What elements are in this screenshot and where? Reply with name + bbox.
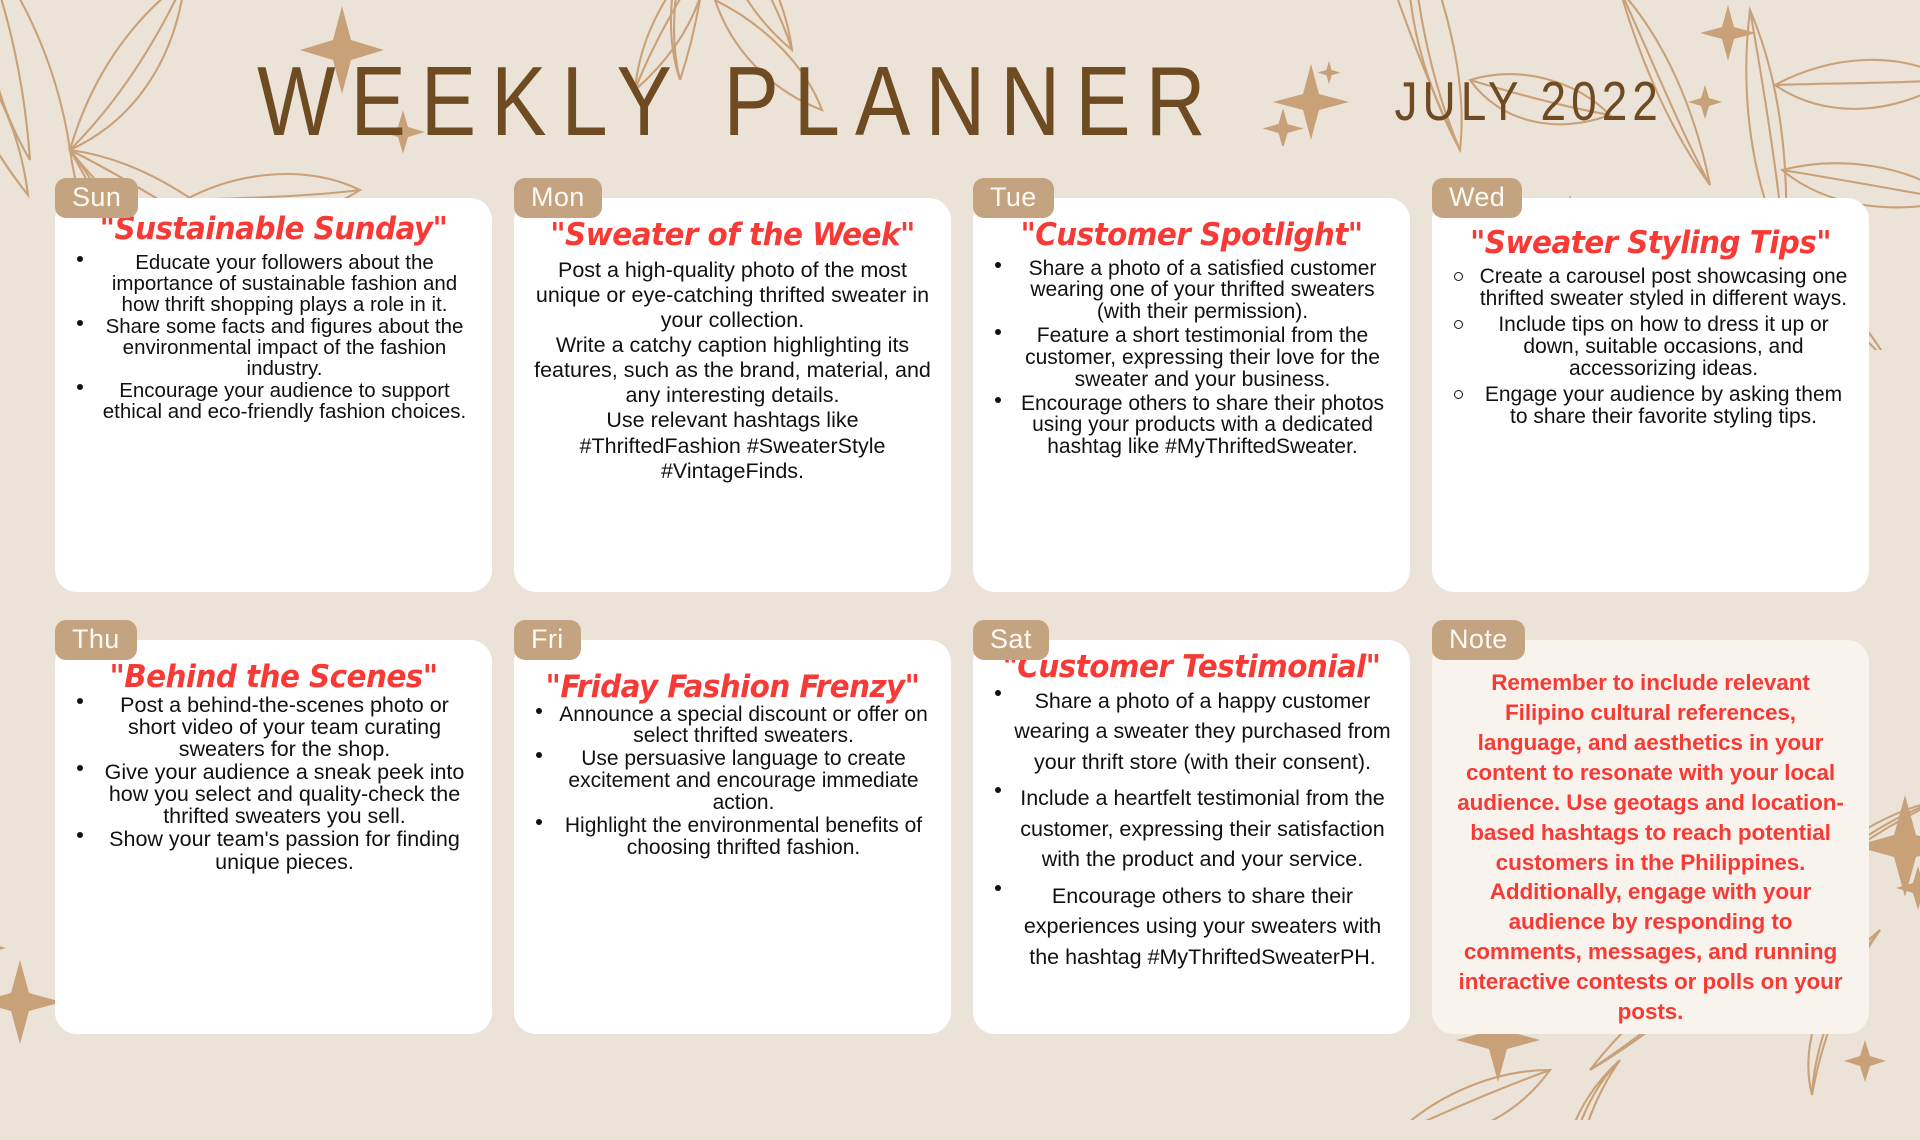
day-title-mon: "Sweater of the Week" [538,220,927,252]
day-tab-thu[interactable]: Thu [55,620,137,660]
bullet-circle-icon [1454,390,1463,399]
list-item: Give your audience a sneak peek into how… [69,761,478,827]
list-item: Write a catchy caption highlighting its … [528,333,937,408]
bullet-disc-icon [995,787,1001,793]
list-item-text: Post a behind-the-scenes photo or short … [120,693,449,761]
planner-header: WEEKLY PLANNER JULY 2022 [0,46,1920,156]
list-item-text: Highlight the environmental benefits of … [565,814,922,859]
bullet-circle-icon [1454,320,1463,329]
day-card-body-thu: "Behind the Scenes" Post a behind-the-sc… [55,640,492,1034]
list-item: Announce a special discount or offer on … [528,704,937,748]
day-title-fri: "Friday Fashion Frenzy" [538,672,927,704]
bullet-disc-icon [995,397,1001,403]
list-item-text: Include a heartfelt testimonial from the… [1020,786,1385,871]
day-card-thu[interactable]: Thu "Behind the Scenes" Post a behind-th… [55,620,492,1034]
page-title: WEEKLY PLANNER [257,52,1220,150]
list-item-text: Write a catchy caption highlighting its … [534,333,931,407]
list-item: Include tips on how to dress it up or do… [1446,314,1855,380]
day-card-fri[interactable]: Fri "Friday Fashion Frenzy" Announce a s… [514,620,951,1034]
list-item: Use relevant hashtags like #ThriftedFash… [528,408,937,483]
list-item-text: Share some facts and figures about the e… [106,315,464,380]
bullet-disc-icon [77,765,83,771]
list-item: Encourage your audience to support ethic… [69,380,478,422]
day-tab-tue[interactable]: Tue [973,178,1054,218]
day-card-body-fri: "Friday Fashion Frenzy" Announce a speci… [514,640,951,1034]
list-item: Engage your audience by asking them to s… [1446,384,1855,428]
day-card-body-sat: "Customer Testimonial" Share a photo of … [973,640,1410,1034]
day-items-thu: Post a behind-the-scenes photo or short … [69,694,478,873]
list-item: Include a heartfelt testimonial from the… [987,783,1396,875]
day-tab-sat[interactable]: Sat [973,620,1049,660]
bullet-disc-icon [536,708,542,714]
bullet-disc-icon [995,690,1001,696]
note-card-body: Remember to include relevant Filipino cu… [1432,640,1869,1034]
day-items-mon: Post a high-quality photo of the most un… [528,258,937,484]
list-item: Use persuasive language to create excite… [528,748,937,813]
list-item: Educate your followers about the importa… [69,252,478,315]
bullet-disc-icon [77,256,83,262]
list-item: Encourage others to share their experien… [987,881,1396,973]
list-item-text: Share a photo of a happy customer wearin… [1014,689,1390,774]
day-tab-mon[interactable]: Mon [514,178,602,218]
day-tab-wed[interactable]: Wed [1432,178,1522,218]
list-item-text: Use relevant hashtags like #ThriftedFash… [580,408,886,482]
list-item-text: Share a photo of a satisfied customer we… [1029,257,1377,324]
list-item: Post a high-quality photo of the most un… [528,258,937,333]
day-tab-fri[interactable]: Fri [514,620,581,660]
list-item-text: Give your audience a sneak peek into how… [105,760,465,828]
list-item-text: Educate your followers about the importa… [112,251,457,316]
day-card-wed[interactable]: Wed "Sweater Styling Tips" Create a caro… [1432,178,1869,592]
day-title-sun: "Sustainable Sunday" [79,214,468,246]
day-card-sun[interactable]: Sun "Sustainable Sunday" Educate your fo… [55,178,492,592]
note-text: Remember to include relevant Filipino cu… [1456,668,1845,1027]
list-item-text: Announce a special discount or offer on … [559,703,928,748]
day-title-tue: "Customer Spotlight" [997,220,1386,252]
list-item-text: Use persuasive language to create excite… [568,747,918,814]
bullet-disc-icon [77,384,83,390]
day-card-body-mon: "Sweater of the Week" Post a high-qualit… [514,198,951,592]
day-title-wed: "Sweater Styling Tips" [1456,228,1845,260]
list-item: Encourage others to share their photos u… [987,393,1396,458]
day-items-fri: Announce a special discount or offer on … [528,704,937,859]
list-item-text: Feature a short testimonial from the cus… [1025,324,1380,391]
bullet-disc-icon [995,329,1001,335]
list-item: Share a photo of a happy customer wearin… [987,686,1396,778]
day-card-body-wed: "Sweater Styling Tips" Create a carousel… [1432,198,1869,592]
bullet-disc-icon [536,752,542,758]
day-card-sat[interactable]: Sat "Customer Testimonial" Share a photo… [973,620,1410,1034]
day-items-wed: Create a carousel post showcasing one th… [1446,266,1855,428]
list-item-text: Include tips on how to dress it up or do… [1498,313,1828,380]
list-item-text: Show your team's passion for finding uni… [109,827,460,873]
bullet-disc-icon [536,819,542,825]
list-item: Highlight the environmental benefits of … [528,815,937,859]
list-item-text: Post a high-quality photo of the most un… [536,258,929,332]
note-tab[interactable]: Note [1432,620,1525,660]
bullet-disc-icon [995,885,1001,891]
day-items-tue: Share a photo of a satisfied customer we… [987,258,1396,458]
bullet-disc-icon [77,698,83,704]
bullet-disc-icon [77,832,83,838]
day-title-sat: "Customer Testimonial" [997,652,1386,684]
four-point-sparkle-icon [1263,56,1353,146]
list-item: Share a photo of a satisfied customer we… [987,258,1396,323]
day-card-body-sun: "Sustainable Sunday" Educate your follow… [55,198,492,592]
list-item: Create a carousel post showcasing one th… [1446,266,1855,310]
list-item-text: Create a carousel post showcasing one th… [1480,265,1848,310]
list-item: Post a behind-the-scenes photo or short … [69,694,478,760]
list-item: Feature a short testimonial from the cus… [987,325,1396,390]
bullet-disc-icon [995,262,1001,268]
list-item-text: Encourage others to share their photos u… [1021,392,1384,459]
list-item-text: Encourage your audience to support ethic… [103,379,467,423]
weekly-grid: Sun "Sustainable Sunday" Educate your fo… [55,178,1867,1038]
day-title-thu: "Behind the Scenes" [79,662,468,694]
list-item: Show your team's passion for finding uni… [69,828,478,872]
day-items-sun: Educate your followers about the importa… [69,252,478,423]
list-item: Share some facts and figures about the e… [69,316,478,379]
bullet-circle-icon [1454,272,1463,281]
list-item-text: Encourage others to share their experien… [1024,884,1381,969]
note-card[interactable]: Note Remember to include relevant Filipi… [1432,620,1869,1034]
bullet-disc-icon [77,320,83,326]
list-item-text: Engage your audience by asking them to s… [1485,383,1842,428]
day-tab-sun[interactable]: Sun [55,178,138,218]
day-card-body-tue: "Customer Spotlight" Share a photo of a … [973,198,1410,592]
month-label: JULY 2022 [1395,69,1663,133]
day-items-sat: Share a photo of a happy customer wearin… [987,686,1396,973]
day-card-tue[interactable]: Tue "Customer Spotlight" Share a photo o… [973,178,1410,592]
day-card-mon[interactable]: Mon "Sweater of the Week" Post a high-qu… [514,178,951,592]
